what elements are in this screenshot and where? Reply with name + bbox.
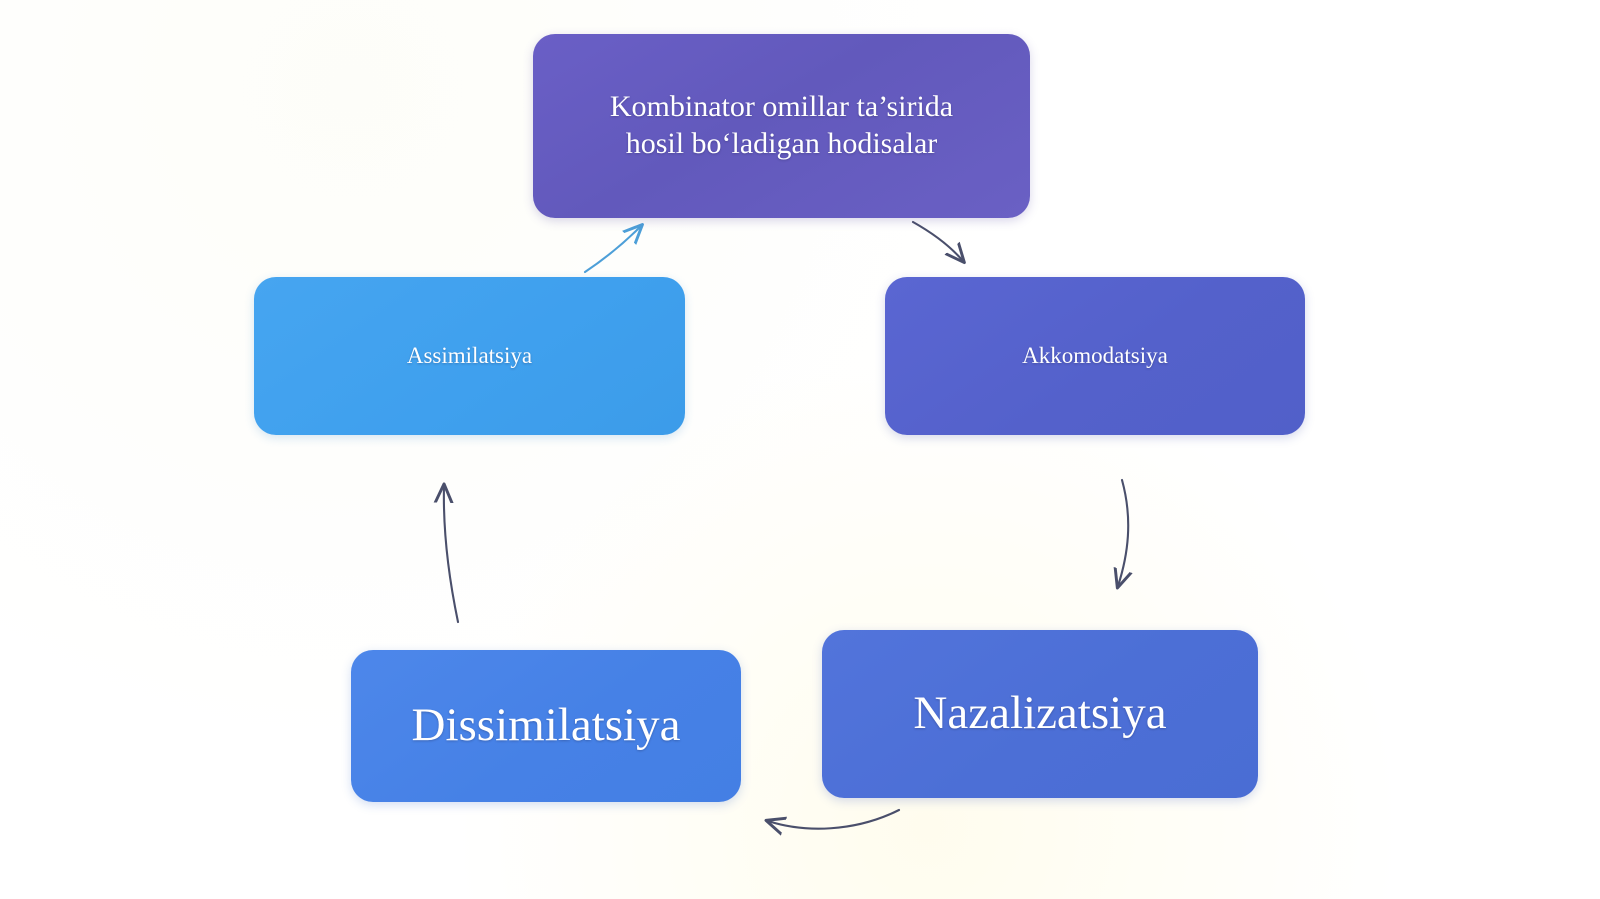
node-dissimilatsiya[interactable]: Dissimilatsiya — [351, 650, 741, 802]
node-nazalizatsiya-label: Nazalizatsiya — [913, 685, 1166, 742]
node-assimilatsiya-label: Assimilatsiya — [407, 342, 532, 370]
node-dissimilatsiya-label: Dissimilatsiya — [412, 697, 681, 754]
diagram-canvas: Kombinator omillar ta’sirida hosil bo‘la… — [0, 0, 1600, 899]
arrow-dissimilatsiya-to-assimilatsiya — [444, 486, 458, 622]
node-assimilatsiya[interactable]: Assimilatsiya — [254, 277, 685, 435]
arrow-top-to-akkomodatsiya — [913, 222, 963, 261]
node-nazalizatsiya[interactable]: Nazalizatsiya — [822, 630, 1258, 798]
arrow-nazalizatsiya-to-dissimilatsiya — [768, 810, 899, 829]
node-akkomodatsiya-label: Akkomodatsiya — [1022, 342, 1168, 370]
arrow-akkomodatsiya-to-nazalizatsiya — [1118, 480, 1128, 586]
arrow-assimilatsiya-to-top — [585, 226, 641, 272]
node-top-line1: Kombinator omillar ta’sirida — [610, 90, 953, 123]
node-akkomodatsiya[interactable]: Akkomodatsiya — [885, 277, 1305, 435]
node-top-line2: hosil bo‘ladigan hodisalar — [626, 127, 938, 160]
node-top-label: Kombinator omillar ta’sirida hosil bo‘la… — [610, 89, 953, 162]
node-kombinator-omillar[interactable]: Kombinator omillar ta’sirida hosil bo‘la… — [533, 34, 1030, 218]
